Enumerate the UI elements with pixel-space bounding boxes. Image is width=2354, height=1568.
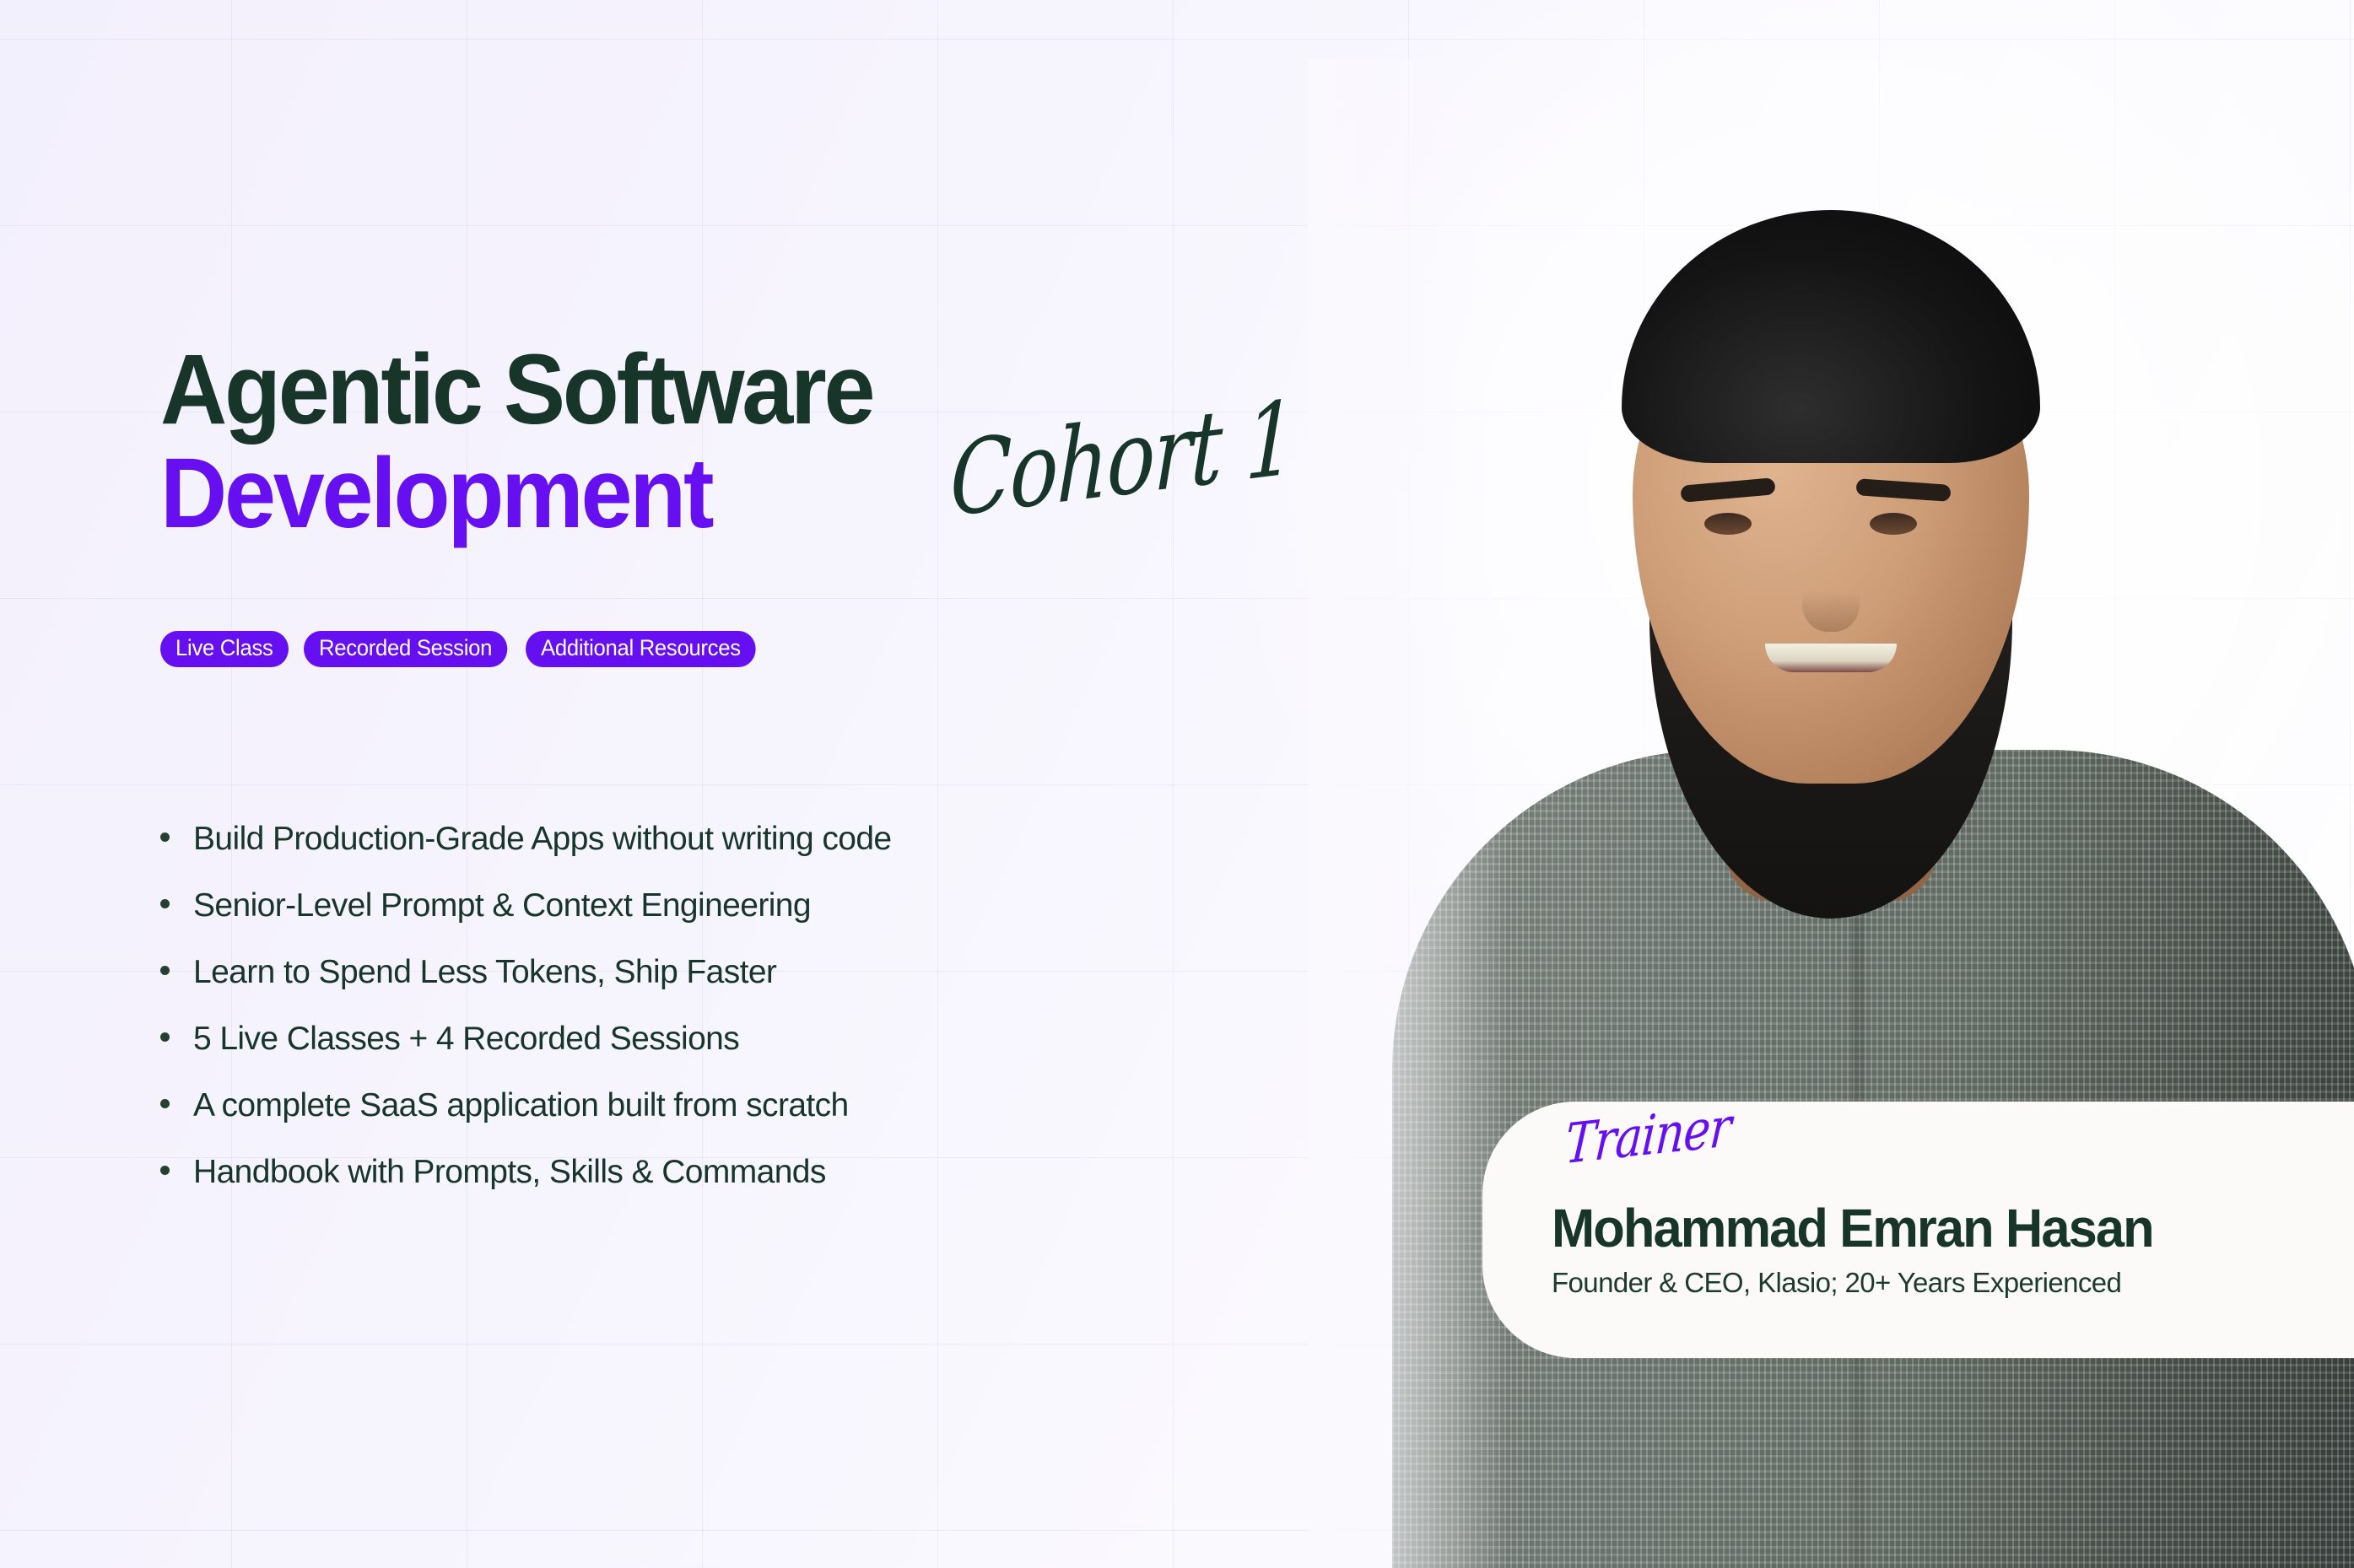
list-item: 5 Live Classes + 4 Recorded Sessions bbox=[160, 1022, 1173, 1055]
portrait-eye-left bbox=[1704, 513, 1752, 535]
portrait-neck bbox=[1725, 708, 1936, 902]
list-item: A complete SaaS application built from s… bbox=[160, 1089, 1173, 1122]
feature-text: Handbook with Prompts, Skills & Commands bbox=[193, 1156, 826, 1188]
badge-recorded-session[interactable]: Recorded Session bbox=[304, 631, 507, 667]
badge-row: Live Class Recorded Session Additional R… bbox=[160, 631, 769, 667]
portrait-eyebrow-left bbox=[1680, 477, 1775, 503]
bullet-dot-icon bbox=[160, 832, 170, 842]
trainer-script-label: Trainer bbox=[1563, 1100, 1732, 1172]
background-glow bbox=[1207, 0, 2354, 1113]
trainer-role: Founder & CEO, Klasio; 20+ Years Experie… bbox=[1552, 1269, 2354, 1296]
list-item: Build Production-Grade Apps without writ… bbox=[160, 822, 1173, 855]
badge-additional-resources[interactable]: Additional Resources bbox=[526, 631, 756, 667]
bullet-dot-icon bbox=[160, 1166, 170, 1175]
course-promo-banner: Agentic Software Development Cohort 1 Li… bbox=[0, 0, 2354, 1568]
badge-live-class[interactable]: Live Class bbox=[160, 631, 289, 667]
portrait-eye-right bbox=[1870, 513, 1917, 535]
portrait-mouth bbox=[1765, 644, 1897, 672]
list-item: Learn to Spend Less Tokens, Ship Faster bbox=[160, 956, 1173, 989]
list-item: Handbook with Prompts, Skills & Commands bbox=[160, 1156, 1173, 1188]
bullet-dot-icon bbox=[160, 1099, 170, 1108]
portrait-beard bbox=[1649, 480, 2012, 919]
feature-text: Learn to Spend Less Tokens, Ship Faster bbox=[193, 956, 776, 989]
portrait-kufi-cap bbox=[1622, 210, 2040, 463]
portrait-face bbox=[1633, 286, 2029, 784]
trainer-info-card: Trainer Mohammad Emran Hasan Founder & C… bbox=[1482, 1102, 2354, 1358]
bullet-dot-icon bbox=[160, 966, 170, 975]
feature-list: Build Production-Grade Apps without writ… bbox=[160, 822, 1173, 1222]
feature-text: Senior-Level Prompt & Context Engineerin… bbox=[193, 889, 811, 922]
trainer-name: Mohammad Emran Hasan bbox=[1552, 1201, 2322, 1255]
feature-text: 5 Live Classes + 4 Recorded Sessions bbox=[193, 1022, 739, 1055]
feature-text: A complete SaaS application built from s… bbox=[193, 1089, 849, 1122]
feature-text: Build Production-Grade Apps without writ… bbox=[193, 822, 892, 855]
list-item: Senior-Level Prompt & Context Engineerin… bbox=[160, 889, 1173, 922]
portrait-eyebrow-right bbox=[1855, 478, 1951, 502]
portrait-nose bbox=[1802, 569, 1860, 632]
left-content-column: Agentic Software Development Cohort 1 Li… bbox=[160, 0, 1291, 1568]
bullet-dot-icon bbox=[160, 899, 170, 908]
bullet-dot-icon bbox=[160, 1032, 170, 1042]
portrait-edge-fade bbox=[1308, 58, 1510, 1568]
